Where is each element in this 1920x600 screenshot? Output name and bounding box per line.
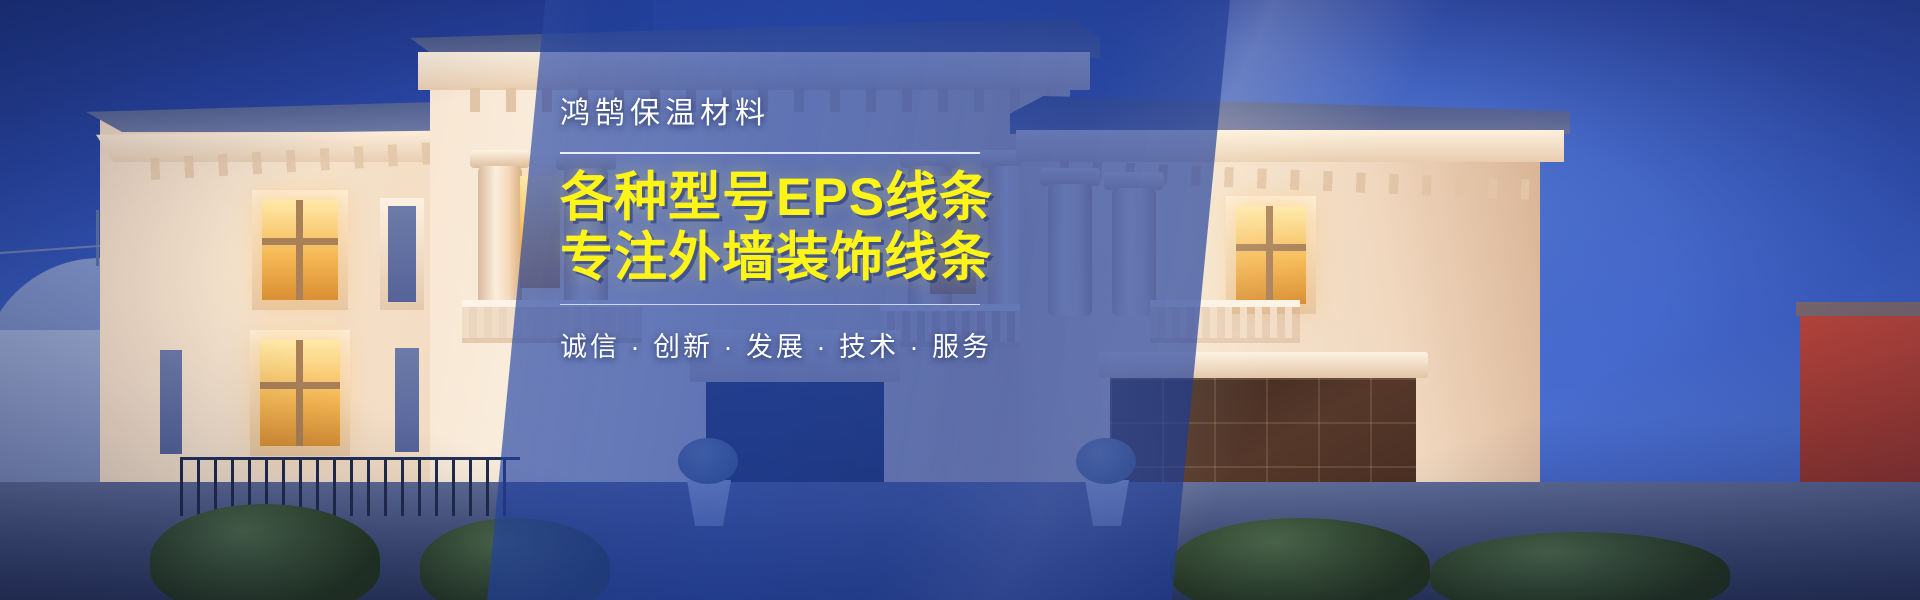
banner-stage: 鸿鹄保温材料 各种型号EPS线条 专注外墙装饰线条 诚信 · 创新 · 发展 ·… <box>0 0 1920 600</box>
divider-top <box>560 152 980 154</box>
dark-window <box>160 350 182 454</box>
dark-window <box>388 206 416 302</box>
dome-mast <box>96 210 99 266</box>
window-transom <box>262 238 338 245</box>
headline-line-2: 专注外墙装饰线条 <box>560 228 1030 288</box>
banner-text-block: 鸿鹄保温材料 各种型号EPS线条 专注外墙装饰线条 诚信 · 创新 · 发展 ·… <box>560 96 1030 364</box>
headline-line-1: 各种型号EPS线条 <box>560 168 1030 228</box>
window-transom <box>260 382 340 389</box>
dark-window <box>395 348 419 452</box>
red-wall <box>1800 312 1920 502</box>
window-mullion <box>296 200 303 300</box>
tagline: 诚信 · 创新 · 发展 · 技术 · 服务 <box>560 325 1030 364</box>
window-mullion <box>1266 206 1273 304</box>
company-name: 鸿鹄保温材料 <box>560 96 1030 132</box>
window-transom <box>1236 244 1306 251</box>
column <box>478 166 522 306</box>
red-wall-coping <box>1796 302 1920 316</box>
divider-bottom <box>560 304 980 305</box>
window-mullion <box>296 340 303 446</box>
